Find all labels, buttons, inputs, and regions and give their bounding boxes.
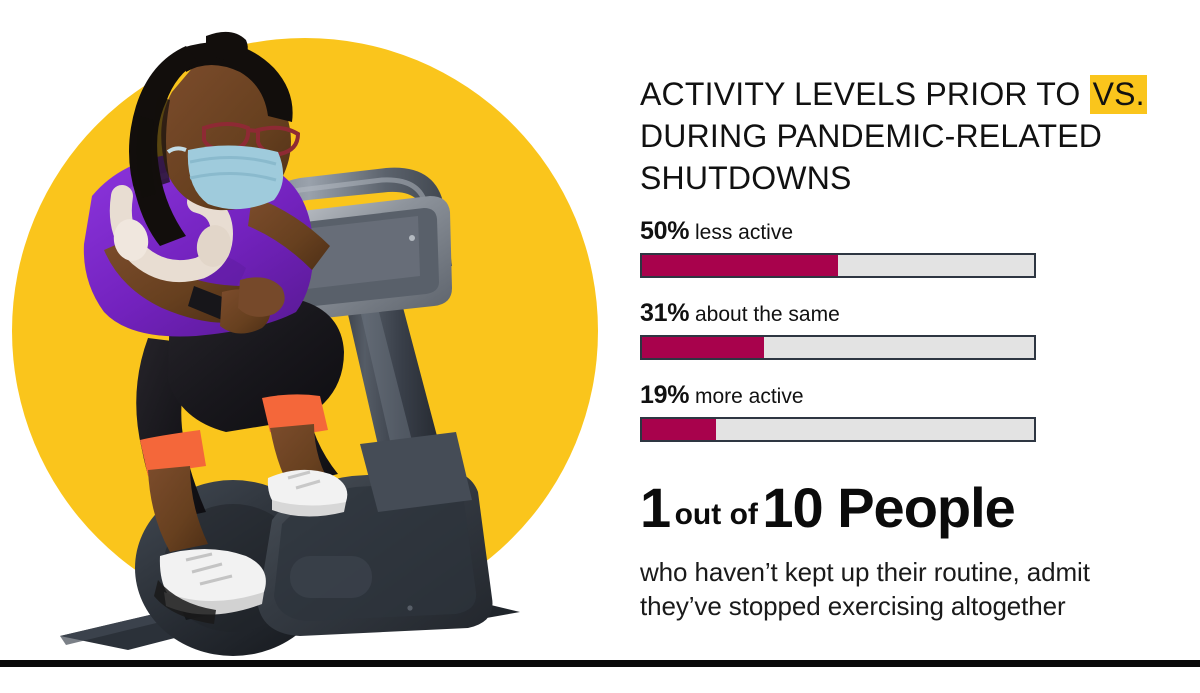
- bar-percent-less-active: 50%: [640, 217, 689, 245]
- big-stat-people: 10 People: [762, 476, 1014, 539]
- content-panel: Activity levels prior to vs.during pande…: [640, 0, 1186, 665]
- bar-percent-about-the-same: 31%: [640, 299, 689, 327]
- bar-label-more-active: 19% more active: [640, 382, 1040, 410]
- bar-track-more-active: [640, 417, 1036, 442]
- headline-line2: during pandemic-related: [640, 118, 1102, 154]
- big-stat-outof: out of: [675, 498, 758, 531]
- headline-highlight-vs: vs.: [1090, 75, 1147, 114]
- bar-text-less-active: less active: [695, 221, 793, 244]
- bar-fill-less-active: [642, 255, 838, 276]
- big-stat-subtext: who haven’t kept up their routine, admit…: [640, 555, 1200, 623]
- headline-line1-pre: Activity levels prior to: [640, 76, 1090, 112]
- bottom-rule: [0, 660, 1200, 667]
- headline-line3: shutdowns: [640, 160, 852, 196]
- cyclist-illustration: [0, 0, 620, 665]
- page-title: Activity levels prior to vs.during pande…: [640, 73, 1192, 199]
- subtext-line2: they’ve stopped exercising altogether: [640, 591, 1066, 621]
- bar-row-about-the-same: 31% about the same: [640, 300, 1040, 360]
- bar-row-more-active: 19% more active: [640, 382, 1040, 442]
- activity-bar-chart: 50% less active 31% about the same 19% m…: [640, 218, 1040, 464]
- big-stat-number: 1: [640, 476, 670, 539]
- photo-panel: [0, 0, 620, 665]
- bar-text-more-active: more active: [695, 385, 804, 408]
- bar-label-less-active: 50% less active: [640, 218, 1040, 246]
- big-stat-line: 1 out of 10 People: [640, 479, 1200, 544]
- bar-text-about-the-same: about the same: [695, 303, 840, 326]
- bar-fill-more-active: [642, 419, 716, 440]
- shoe-front: [268, 470, 347, 517]
- bar-label-about-the-same: 31% about the same: [640, 300, 1040, 328]
- bar-fill-about-the-same: [642, 337, 764, 358]
- subtext-line1: who haven’t kept up their routine, admit: [640, 557, 1090, 587]
- infographic-root: Activity levels prior to vs.during pande…: [0, 0, 1200, 693]
- bar-track-about-the-same: [640, 335, 1036, 360]
- bar-percent-more-active: 19%: [640, 381, 689, 409]
- bar-row-less-active: 50% less active: [640, 218, 1040, 278]
- bar-track-less-active: [640, 253, 1036, 278]
